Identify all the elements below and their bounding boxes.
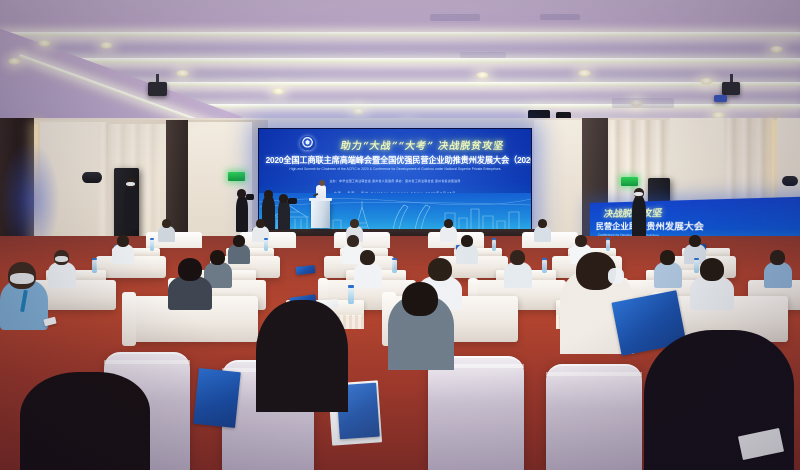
downlight-14 — [770, 46, 783, 53]
crew-member-left-aisle — [124, 186, 138, 230]
attendee-head-r3-6 — [770, 250, 785, 265]
attendee-r3-5 — [654, 262, 682, 288]
main-led-screen: 助力“大战”“大考” 决战脱贫攻坚 2020全国工商联主席高端峰会暨全国优强民营… — [258, 128, 532, 234]
ceiling-soffit-1 — [0, 36, 800, 58]
attendee-r3-4 — [504, 262, 532, 288]
bottle-cap-r3-3 — [542, 258, 547, 260]
crew-member-2 — [278, 200, 290, 230]
program-booklet-front-1 — [193, 368, 241, 428]
water-bottle-r2-2 — [264, 240, 268, 251]
conference-hall-photo: 助力“大战”“大考” 决战脱贫攻坚 2020全国工商联主席高端峰会暨全国优强民营… — [0, 0, 800, 470]
downlight-2 — [8, 58, 21, 65]
attendee-head-f3 — [350, 219, 359, 228]
attendee-head-f5 — [538, 219, 547, 228]
bottle-cap-r3-2 — [392, 258, 397, 260]
ceiling-led-slot-2 — [0, 58, 800, 63]
attendee-r4-3 — [690, 276, 734, 310]
bottle-cap-r2-3 — [492, 238, 496, 240]
chair-sash-4 — [546, 372, 642, 376]
attendee-r2-1 — [112, 244, 134, 264]
sofa-arm-r4-1 — [122, 292, 136, 346]
attendee-r2-4 — [456, 244, 478, 264]
ceiling-vent-2 — [540, 14, 580, 20]
ceiling-led-slot-1 — [0, 32, 800, 36]
water-bottle-r3-4 — [694, 260, 699, 273]
attendee-r3-3 — [354, 262, 382, 288]
screen-host-line: 主办：中华全国工商业联合会 贵州省人民政府 承办：贵州省工商业联合会 贵州省投资… — [265, 179, 525, 183]
crew-head-3 — [237, 189, 246, 198]
downlight-4 — [272, 88, 285, 95]
podium-top — [309, 198, 332, 201]
ceiling-flat-band — [0, 0, 800, 36]
attendee-head-r2-4 — [461, 235, 473, 247]
attendee-head-r2-1 — [117, 235, 129, 247]
attendee-r4-1 — [168, 276, 212, 310]
attendee-f5 — [534, 226, 551, 242]
projector-lens-2 — [714, 95, 727, 102]
attendee-r3-6 — [764, 262, 792, 288]
crew-head-1 — [264, 190, 273, 199]
acfic-emblem-icon — [300, 136, 315, 151]
side-banner-title: 民营企业助推贵州发展大会 — [596, 220, 704, 233]
screen-title-chinese: 2020全国工商联主席高端峰会暨全国优强民营企业助推贵州发展大会（2020贵商大… — [266, 154, 525, 166]
water-bottle-r3-1 — [92, 260, 97, 273]
chair-sash-1 — [104, 360, 190, 364]
downlight-9 — [476, 72, 489, 79]
water-bottle-r4-1 — [348, 288, 354, 304]
crew-head-2 — [279, 194, 288, 203]
bottle-cap-r2-1 — [150, 238, 154, 240]
attendee-head-f2 — [256, 219, 265, 228]
attendee-head-r3-4 — [510, 250, 525, 265]
bottle-cap-r2-2 — [264, 238, 268, 240]
attendee-head-r4-2 — [428, 258, 452, 281]
banquet-chair-4[interactable] — [546, 364, 642, 470]
attendee-head-r2-5 — [575, 235, 587, 247]
screen-calligraphy-slogan: 助力“大战”“大考” 决战脱贫攻坚 — [340, 137, 522, 151]
downlight-1 — [38, 40, 51, 47]
ceiling-vent-1 — [430, 14, 480, 21]
downlight-5 — [352, 108, 365, 115]
ceiling-vent-4 — [460, 52, 506, 58]
bottle-cap-r4-1 — [348, 285, 354, 288]
downlight-3 — [176, 70, 189, 77]
exit-sign-right — [621, 177, 638, 186]
attendee-head-r3-5 — [660, 250, 675, 265]
face-mask-r3-1 — [55, 256, 68, 262]
water-bottle-r3-3 — [542, 260, 547, 273]
bottle-cap-r2-4 — [606, 238, 610, 240]
attendee-head-r2-3 — [347, 235, 359, 247]
attendee-head-f1 — [162, 219, 171, 228]
hanging-speaker-right — [782, 176, 798, 186]
attendee-head-r3-2 — [210, 250, 225, 265]
bottle-cap-r3-4 — [694, 258, 699, 260]
attendee-front-center-hair — [256, 300, 348, 412]
downlight-10 — [700, 78, 713, 85]
water-bottle-r2-3 — [492, 240, 496, 251]
hanging-speaker-left — [82, 172, 102, 183]
attendee-head-f4 — [444, 219, 453, 228]
bottle-cap-r3-1 — [92, 258, 97, 260]
attendee-head-r2-6 — [689, 235, 701, 247]
screen-skyline-graphic — [259, 193, 531, 233]
ceiling-vent-3 — [612, 98, 674, 108]
stage-speaker-head — [319, 180, 325, 186]
downlight-8 — [578, 70, 591, 77]
face-mask-front-right — [608, 268, 624, 284]
water-bottle-r2-1 — [150, 240, 154, 251]
attendee-front-left-hair — [20, 372, 150, 470]
screen-title-english: High-end Summit for Chairmen of the ACFI… — [265, 167, 525, 171]
attendee-f4 — [440, 226, 457, 242]
water-bottle-r3-2 — [392, 260, 397, 273]
attendee-head-r2-2 — [233, 235, 245, 247]
attendee-head-r4-1 — [178, 258, 202, 281]
attendee-head-r3-3 — [360, 250, 375, 265]
face-mask-r4-left — [10, 273, 34, 284]
attendee-f1 — [158, 226, 175, 242]
water-bottle-r2-4 — [606, 240, 610, 251]
exit-sign-left — [228, 172, 245, 181]
podium — [311, 200, 330, 228]
banquet-chair-3[interactable] — [428, 356, 524, 470]
attendee-r2-2 — [228, 244, 250, 264]
crew-member-3 — [236, 196, 248, 232]
attendee-r3-1 — [48, 262, 76, 288]
attendee-front-mid-head — [402, 282, 438, 316]
face-mask-crew — [126, 182, 135, 186]
projector-1 — [148, 82, 167, 96]
projector-2 — [722, 82, 740, 95]
attendee-head-r4-3 — [700, 258, 724, 281]
camera-icon-2 — [246, 194, 254, 200]
downlight-7 — [100, 42, 113, 49]
face-mask-staff — [634, 192, 643, 196]
camera-icon-1 — [288, 198, 297, 204]
